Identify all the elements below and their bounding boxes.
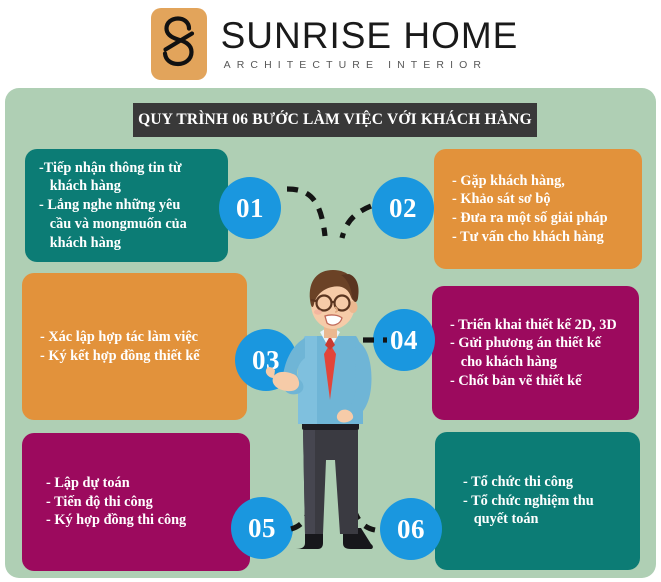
brand-name: SUNRISE HOME [221, 17, 519, 55]
infographic-root: SUNRISE HOME ARCHITECTURE INTERIOR QUY T… [0, 0, 661, 582]
businessman-thumbs-up-illustration [5, 88, 656, 578]
brand-header: SUNRISE HOME ARCHITECTURE INTERIOR [0, 0, 661, 88]
sunrise-home-monogram-icon [151, 8, 207, 80]
brand-tagline: ARCHITECTURE INTERIOR [224, 59, 519, 71]
logo-row: SUNRISE HOME ARCHITECTURE INTERIOR [151, 8, 519, 80]
logo-text: SUNRISE HOME ARCHITECTURE INTERIOR [221, 17, 519, 71]
infographic-panel: QUY TRÌNH 06 BƯỚC LÀM VIỆC VỚI KHÁCH HÀN… [5, 88, 656, 578]
